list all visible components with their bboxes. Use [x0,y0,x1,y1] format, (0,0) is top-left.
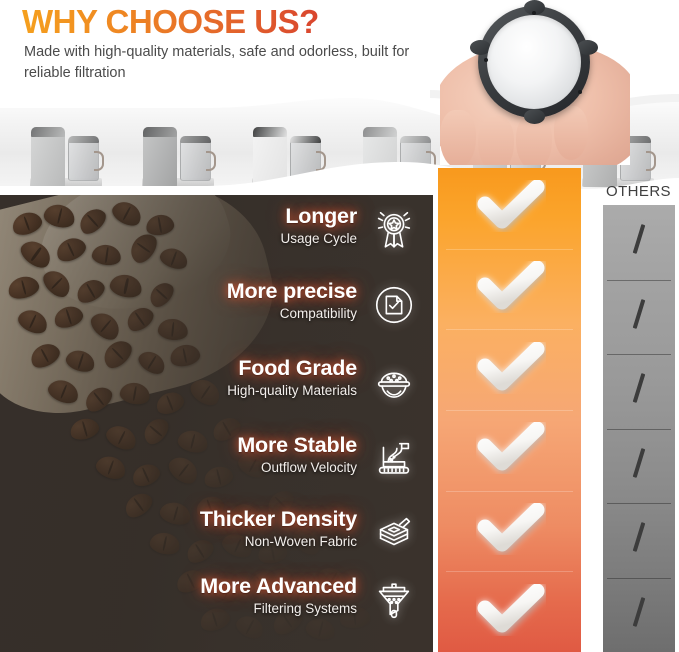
ours-cell [438,329,581,410]
disc-rivet [532,11,536,15]
finger [440,110,476,165]
feature-subtext: Outflow Velocity [237,459,357,477]
check-icon [476,422,546,474]
feature-text: More AdvancedFiltering Systems [200,575,357,617]
header: WHY CHOOSE US? Made with high-quality ma… [0,0,440,95]
others-cell [603,354,675,429]
slash-icon [633,373,646,403]
check-icon [476,261,546,313]
ours-column [438,168,581,652]
feature-heading: Food Grade [227,357,357,380]
feature-heading: More precise [227,280,357,303]
feature-subtext: Usage Cycle [280,230,357,248]
slash-icon [633,522,646,552]
check-icon [476,503,546,555]
finger [554,106,588,160]
check-icon [476,584,546,636]
ours-cell [438,571,581,652]
others-cell [603,503,675,578]
feature-rows: LongerUsage CycleMore preciseCompatibili… [0,195,433,652]
others-column [603,205,675,652]
funnel-filter-icon [371,577,417,623]
feature-heading: Longer [280,205,357,228]
feature-text: Food GradeHigh-quality Materials [227,357,357,399]
feature-subtext: High-quality Materials [227,382,357,400]
feature-panel: LongerUsage CycleMore preciseCompatibili… [0,195,433,652]
feature-subtext: Filtering Systems [200,600,357,618]
slash-icon [633,597,646,627]
slash-icon [633,224,646,254]
feature-heading: Thicker Density [200,508,357,531]
disc-tab [524,109,545,124]
feature-text: More StableOutflow Velocity [237,434,357,476]
feature-text: More preciseCompatibility [227,280,357,322]
filter-disc [478,6,590,118]
ours-cell [438,168,581,249]
feature-subtext: Compatibility [227,305,357,323]
check-icon [476,180,546,232]
others-cell [603,280,675,355]
disc-rivet [578,90,582,94]
page-title: WHY CHOOSE US? [22,3,319,41]
ours-cell [438,249,581,330]
disc-rivet [484,58,488,62]
filter-mesh [487,15,581,109]
ours-cell [438,491,581,572]
ours-cell [438,410,581,491]
page-subtitle: Made with high-quality materials, safe a… [24,42,424,85]
feature-text: Thicker DensityNon-Woven Fabric [200,508,357,550]
feature-text: LongerUsage Cycle [280,205,357,247]
check-icon [476,342,546,394]
others-column-label: OTHERS [598,183,679,200]
others-cell [603,429,675,504]
finger [478,116,514,165]
feature-heading: More Advanced [200,575,357,598]
feature-subtext: Non-Woven Fabric [200,533,357,551]
product-photo [440,0,630,165]
food-bowl-icon [371,359,417,405]
award-ribbon-icon [371,207,417,253]
slash-icon [633,448,646,478]
slash-icon [633,299,646,329]
others-cell [603,578,675,652]
others-cell [603,205,675,280]
feature-heading: More Stable [237,434,357,457]
infographic-root: WHY CHOOSE US? Made with high-quality ma… [0,0,679,652]
water-outflow-icon [371,436,417,482]
document-check-icon [371,282,417,328]
layered-fabric-icon [371,510,417,556]
